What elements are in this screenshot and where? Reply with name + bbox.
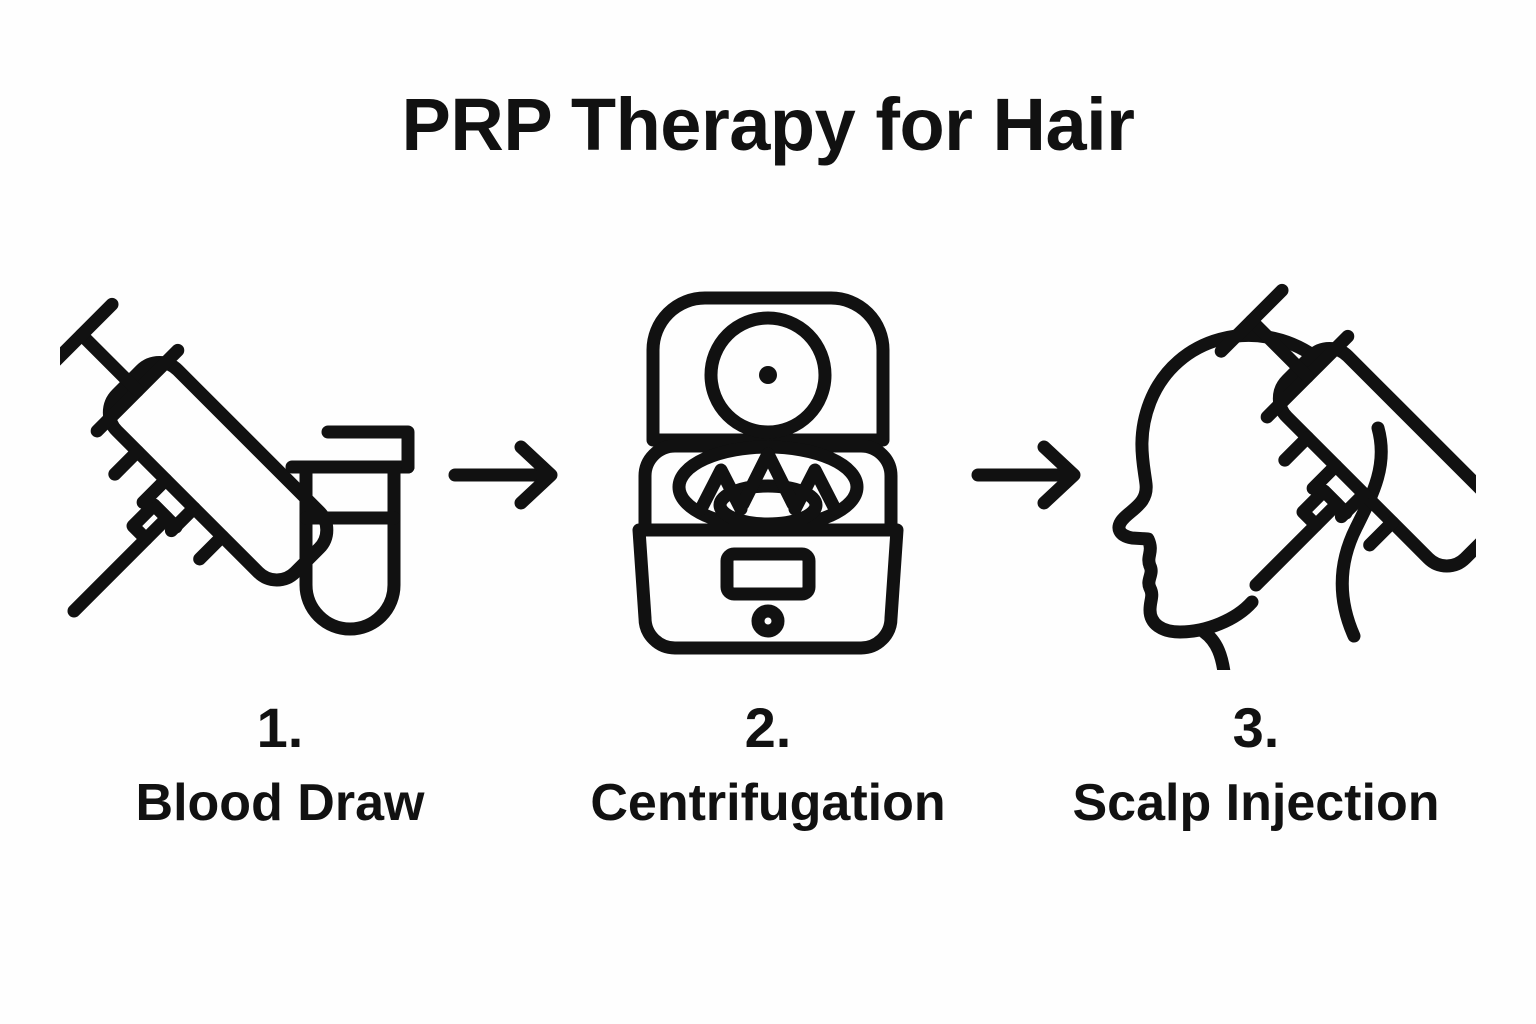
neck-front-line <box>1204 632 1224 670</box>
needle-shaft <box>74 539 146 611</box>
caption-step-2: 2. Centrifugation <box>548 700 988 831</box>
process-flow <box>60 275 1476 675</box>
graduation-mark <box>115 451 138 474</box>
connector-2 <box>955 415 1105 535</box>
caption-step-1: 1. Blood Draw <box>60 700 500 831</box>
graduation-mark <box>1313 466 1336 489</box>
head-with-syringe-icon <box>1106 280 1476 670</box>
step-1-icon-syringe-and-test-tube <box>60 280 430 670</box>
step-3-number: 3. <box>1036 700 1476 756</box>
connector-1 <box>432 415 582 535</box>
graduation-mark <box>171 508 194 531</box>
lid-center-dot <box>759 366 777 384</box>
step-2-icon-centrifuge <box>583 280 953 670</box>
graduation-mark <box>1285 437 1308 460</box>
power-button <box>758 611 778 631</box>
syringe-and-test-tube-icon <box>60 280 430 670</box>
graduation-mark <box>200 536 223 559</box>
control-display <box>727 554 809 594</box>
arrow-right-icon <box>970 435 1090 515</box>
needle-shaft <box>1256 525 1316 585</box>
step-3-label: Scalp Injection <box>1036 776 1476 831</box>
graduation-mark <box>1370 522 1393 545</box>
step-1-number: 1. <box>60 700 500 756</box>
graduation-mark <box>143 480 166 503</box>
page-title: PRP Therapy for Hair <box>0 88 1536 162</box>
centrifuge-icon <box>623 280 913 670</box>
step-2-label: Centrifugation <box>548 776 988 831</box>
step-1-label: Blood Draw <box>60 776 500 831</box>
step-captions: 1. Blood Draw 2. Centrifugation 3. Scalp… <box>60 700 1476 831</box>
step-3-icon-head-with-syringe <box>1106 280 1476 670</box>
step-2-number: 2. <box>548 700 988 756</box>
plunger-rod <box>82 335 138 391</box>
arrow-right-icon <box>447 435 567 515</box>
infographic-canvas: PRP Therapy for Hair <box>0 0 1536 1024</box>
rotor-tube-center <box>743 454 793 504</box>
caption-step-3: 3. Scalp Injection <box>1036 700 1476 831</box>
